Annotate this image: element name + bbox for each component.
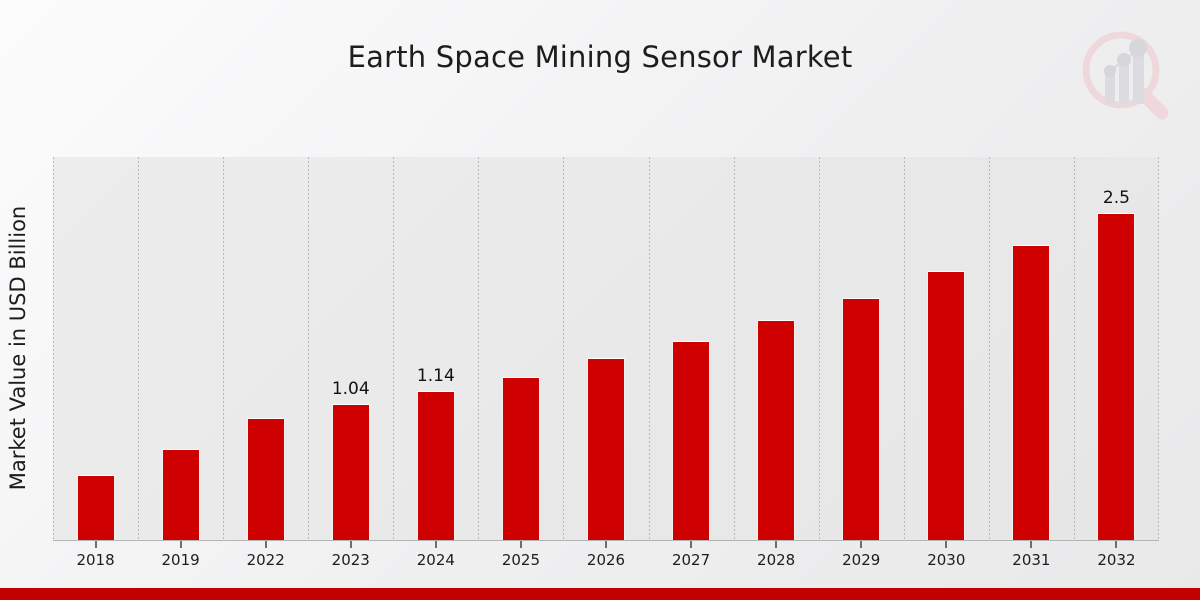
bar-2022[interactable]	[247, 418, 285, 540]
gridline	[1074, 157, 1075, 540]
x-axis-tick	[350, 541, 352, 548]
bar-2027[interactable]	[672, 341, 710, 540]
bar-2019[interactable]	[162, 449, 200, 541]
bar-value-label-2023: 1.04	[332, 379, 370, 399]
bar-value-label-2032: 2.5	[1103, 188, 1130, 208]
bar-2025[interactable]	[502, 377, 540, 540]
x-axis-tick	[860, 541, 862, 548]
x-tick-label-2019: 2019	[162, 551, 200, 569]
bar-2030[interactable]	[927, 271, 965, 540]
gridline	[138, 157, 139, 540]
x-tick-label-2027: 2027	[672, 551, 710, 569]
x-tick-label-2029: 2029	[842, 551, 880, 569]
bar-2026[interactable]	[587, 358, 625, 540]
bar-2029[interactable]	[842, 298, 880, 540]
gridline	[904, 157, 905, 540]
x-axis-tick	[520, 541, 522, 548]
gridline	[308, 157, 309, 540]
x-axis-tick	[265, 541, 267, 548]
gridline	[393, 157, 394, 540]
x-axis-tick	[945, 541, 947, 548]
bar-2018[interactable]	[77, 475, 115, 540]
x-axis-tick	[435, 541, 437, 548]
x-axis-tick	[605, 541, 607, 548]
x-tick-label-2025: 2025	[502, 551, 540, 569]
x-tick-label-2032: 2032	[1097, 551, 1135, 569]
x-axis-tick	[180, 541, 182, 548]
x-tick-label-2022: 2022	[247, 551, 285, 569]
x-tick-label-2018: 2018	[76, 551, 114, 569]
y-axis-title-label: Market Value in USD Billion	[6, 206, 30, 490]
x-axis-tick	[1115, 541, 1117, 548]
bar-2023[interactable]	[332, 404, 370, 540]
gridline	[223, 157, 224, 540]
gridline	[989, 157, 990, 540]
x-axis-tick	[690, 541, 692, 548]
x-tick-label-2031: 2031	[1012, 551, 1050, 569]
x-tick-label-2023: 2023	[332, 551, 370, 569]
y-axis-title: Market Value in USD Billion	[2, 157, 34, 539]
x-axis-tick	[95, 541, 97, 548]
gridline	[819, 157, 820, 540]
bar-2031[interactable]	[1012, 245, 1050, 540]
x-tick-label-2026: 2026	[587, 551, 625, 569]
gridline	[563, 157, 564, 540]
chart-page: Earth Space Mining Sensor Market Market …	[0, 0, 1200, 600]
x-axis-tick	[775, 541, 777, 548]
gridline	[734, 157, 735, 540]
gridline	[53, 157, 54, 540]
x-tick-label-2024: 2024	[417, 551, 455, 569]
bar-2024[interactable]	[417, 391, 455, 540]
bar-2032[interactable]	[1097, 213, 1135, 540]
gridline	[649, 157, 650, 540]
page-title: Earth Space Mining Sensor Market	[0, 40, 1200, 74]
gridline	[478, 157, 479, 540]
gridline	[1158, 157, 1159, 540]
footer-accent-bar	[0, 588, 1200, 600]
plot-area	[53, 157, 1159, 540]
x-axis-tick	[1030, 541, 1032, 548]
x-tick-label-2030: 2030	[927, 551, 965, 569]
x-tick-label-2028: 2028	[757, 551, 795, 569]
bar-value-label-2024: 1.14	[417, 366, 455, 386]
bar-2028[interactable]	[757, 320, 795, 540]
